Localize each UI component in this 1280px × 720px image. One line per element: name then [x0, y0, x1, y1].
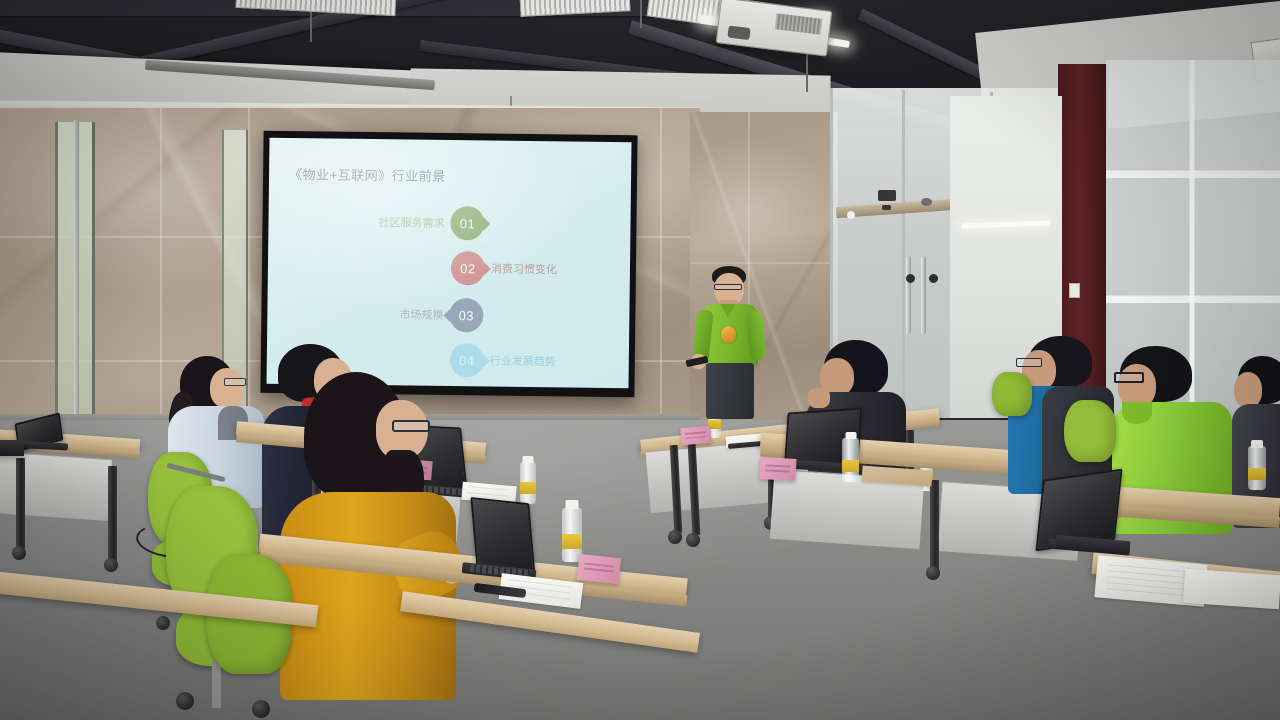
shirt-collar	[1122, 402, 1152, 424]
bottle-label	[1248, 468, 1266, 480]
bottle-label	[842, 460, 859, 472]
glasses-icon	[714, 284, 742, 290]
glasses-icon	[224, 378, 246, 386]
slide-bullet-02: 02 消费习惯变化	[451, 251, 557, 286]
name-card	[577, 554, 621, 584]
slide-bullet-label: 市场规模	[399, 306, 443, 323]
shelf-object	[921, 198, 932, 206]
bottle-label	[562, 534, 582, 549]
slide-bullet-label: 消费习惯变化	[491, 261, 557, 278]
bottle-cap	[1251, 440, 1263, 448]
presenter	[690, 266, 774, 416]
tile-seam	[660, 108, 662, 438]
presenter-pants	[706, 363, 754, 419]
table-caster	[12, 546, 26, 560]
door-lock-icon[interactable]	[906, 274, 915, 283]
ceiling-projector	[716, 0, 833, 57]
table-caster	[926, 566, 940, 580]
slide-bullet-label: 社区服务需求	[378, 214, 444, 231]
name-card-text	[685, 431, 706, 439]
tile-seam	[690, 262, 838, 264]
slide-bullet-01: 社区服务需求 01	[378, 205, 484, 240]
shelf-object	[878, 190, 896, 201]
door-lock-icon[interactable]	[929, 274, 938, 283]
water-bottle[interactable]	[1248, 446, 1266, 490]
ceiling-downlight	[847, 211, 855, 219]
chair-caster	[252, 700, 270, 718]
table-caster	[686, 533, 700, 547]
glasses-icon	[1114, 372, 1144, 383]
attendee-head	[210, 368, 244, 408]
glasses-icon	[392, 420, 430, 432]
slide-bullet-badge: 01	[450, 206, 484, 240]
name-card	[759, 457, 796, 481]
attendee-head	[1234, 372, 1262, 408]
conference-room-scene: 《物业+互联网》行业前景 社区服务需求 01 02 消费习惯变化 市场规模 03…	[0, 0, 1280, 720]
table-leg	[16, 458, 25, 550]
shelf-object	[882, 205, 891, 210]
door-handle[interactable]	[921, 256, 926, 334]
table-leg	[108, 466, 117, 562]
water-bottle[interactable]	[520, 462, 536, 504]
bottle-cap	[566, 500, 579, 509]
slide-title: 《物业+互联网》行业前景	[289, 164, 446, 185]
bottle-cap	[845, 432, 856, 439]
paper-text-lines	[1106, 565, 1191, 597]
name-card-text	[765, 464, 791, 473]
chair-backrest[interactable]	[1064, 400, 1116, 462]
chair-caster	[156, 616, 170, 630]
ceiling-hanger-rod	[640, 0, 642, 28]
slide-bullet-badge: 03	[449, 298, 483, 332]
name-card	[680, 426, 711, 446]
light-switch[interactable]	[1069, 283, 1080, 298]
chair-post	[212, 660, 221, 708]
table-modesty-panel	[646, 441, 771, 513]
handout-paper	[1183, 569, 1280, 610]
projector-lens-icon	[727, 25, 750, 40]
door-handle[interactable]	[906, 256, 911, 334]
glasses-icon	[1016, 358, 1042, 367]
name-card-text	[584, 562, 614, 574]
slide-bullet-03: 市场规模 03	[399, 297, 483, 332]
slide-bullet-badge: 02	[451, 251, 485, 285]
bottle-label	[520, 482, 536, 494]
water-bottle[interactable]	[842, 438, 859, 482]
company-logo-icon	[721, 326, 736, 343]
slide-bullet-label: 行业发展趋势	[490, 353, 556, 370]
chair-caster	[176, 692, 194, 710]
window-mullion	[74, 120, 79, 422]
presenter-arm-right	[746, 309, 766, 360]
table-caster	[104, 558, 118, 572]
bottle-cap	[523, 456, 534, 463]
attendee-hand-on-chin	[808, 388, 830, 408]
table-caster	[668, 530, 682, 544]
chair-backrest[interactable]	[992, 372, 1032, 416]
table-leg	[930, 480, 939, 570]
equipment-box	[0, 440, 24, 456]
projector-vent-grille	[775, 13, 823, 34]
ceiling-hanger-rod	[310, 8, 312, 42]
